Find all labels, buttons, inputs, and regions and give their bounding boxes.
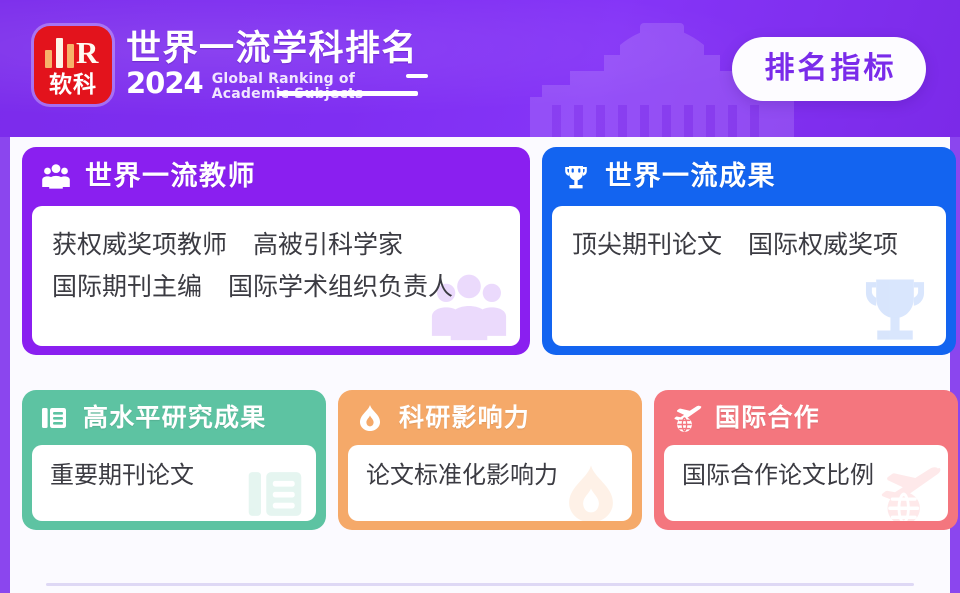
metric-list: 获权威奖项教师 高被引科学家 国际期刊主编 国际学术组织负责人	[32, 206, 520, 324]
metric-list: 国际合作论文比例	[664, 445, 948, 505]
card-world-class-output[interactable]: 世界一流成果 顶尖期刊论文	[542, 147, 956, 355]
metric-item[interactable]: 国际权威奖项	[748, 224, 898, 266]
journal-document-icon	[38, 402, 70, 434]
card-international-collaboration[interactable]: 国际合作 国际合作论	[654, 390, 958, 530]
metric-row: 顶尖期刊论文 国际权威奖项	[572, 224, 926, 266]
trophy-icon	[560, 161, 592, 193]
metric-list: 重要期刊论文	[32, 445, 316, 505]
card-world-class-faculty[interactable]: 世界一流教师 获权威奖项教师 高被引科学家	[22, 147, 530, 355]
slide-header: R 软科 世界一流学科排名 2024 Global Ranking of Aca…	[0, 0, 960, 137]
logo-bar-chart-icon	[45, 38, 74, 68]
indicator-row-top: 世界一流教师 获权威奖项教师 高被引科学家	[22, 147, 956, 355]
card-header: 世界一流成果	[542, 147, 956, 206]
title-rule-short	[406, 74, 428, 78]
people-group-icon	[40, 161, 72, 193]
brand-text: 世界一流学科排名 2024 Global Ranking of Academic…	[126, 28, 422, 102]
card-header: 世界一流教师	[22, 147, 530, 206]
card-body: 论文标准化影响力	[348, 445, 632, 521]
card-body: 顶尖期刊论文 国际权威奖项	[552, 206, 946, 346]
metric-item[interactable]: 高被引科学家	[253, 224, 403, 266]
card-body: 获权威奖项教师 高被引科学家 国际期刊主编 国际学术组织负责人	[32, 206, 520, 346]
metric-item[interactable]: 国际期刊主编	[52, 266, 202, 308]
metric-row: 获权威奖项教师 高被引科学家	[52, 224, 500, 266]
metric-list: 论文标准化影响力	[348, 445, 632, 505]
card-title: 世界一流成果	[605, 163, 776, 191]
metric-item[interactable]: 论文标准化影响力	[366, 460, 558, 490]
metric-item[interactable]: 国际学术组织负责人	[228, 266, 453, 308]
title-english-text: Global Ranking of Academic Subjects	[212, 71, 364, 102]
card-body: 重要期刊论文	[32, 445, 316, 521]
logo-cn-mark: 软科	[34, 74, 112, 97]
section-badge-label: 排名指标	[762, 54, 897, 84]
indicators-panel: 世界一流教师 获权威奖项教师 高被引科学家	[0, 137, 960, 593]
card-title: 高水平研究成果	[83, 404, 266, 432]
brand-lockup: R 软科 世界一流学科排名 2024 Global Ranking of Aca…	[34, 26, 422, 104]
card-header: 国际合作	[654, 390, 958, 445]
metric-row: 国际期刊主编 国际学术组织负责人	[52, 266, 500, 308]
section-badge-ranking-indicators[interactable]: 排名指标	[732, 37, 926, 101]
flame-icon	[354, 402, 386, 434]
shanghai-ranking-logo: R 软科	[34, 26, 112, 104]
footer-divider	[46, 583, 914, 586]
card-header: 科研影响力	[338, 390, 642, 445]
card-title: 科研影响力	[399, 404, 530, 432]
card-title: 国际合作	[715, 404, 820, 432]
indicator-row-bottom: 高水平研究成果	[22, 390, 958, 530]
ranking-indicators-slide: R 软科 世界一流学科排名 2024 Global Ranking of Aca…	[0, 0, 960, 593]
logo-latin-mark: R	[76, 37, 98, 68]
page-title: 世界一流学科排名	[126, 30, 422, 68]
card-high-quality-research[interactable]: 高水平研究成果	[22, 390, 326, 530]
card-header: 高水平研究成果	[22, 390, 326, 445]
brand-subtitle: 2024 Global Ranking of Academic Subjects	[126, 69, 422, 102]
metric-item[interactable]: 获权威奖项教师	[52, 224, 227, 266]
airplane-globe-icon	[670, 402, 702, 434]
card-title: 世界一流教师	[85, 163, 256, 191]
card-body: 国际合作论文比例	[664, 445, 948, 521]
metric-row: 重要期刊论文	[50, 460, 298, 490]
edition-year: 2024	[126, 69, 203, 98]
card-research-impact[interactable]: 科研影响力 论文标准化影响力	[338, 390, 642, 530]
metric-item[interactable]: 重要期刊论文	[50, 460, 194, 490]
metric-item[interactable]: 国际合作论文比例	[682, 460, 874, 490]
metric-row: 论文标准化影响力	[366, 460, 614, 490]
metric-row: 国际合作论文比例	[682, 460, 930, 490]
metric-list: 顶尖期刊论文 国际权威奖项	[552, 206, 946, 282]
title-english: Global Ranking of Academic Subjects	[212, 69, 422, 102]
title-rule-long	[278, 91, 418, 96]
metric-item[interactable]: 顶尖期刊论文	[572, 224, 722, 266]
